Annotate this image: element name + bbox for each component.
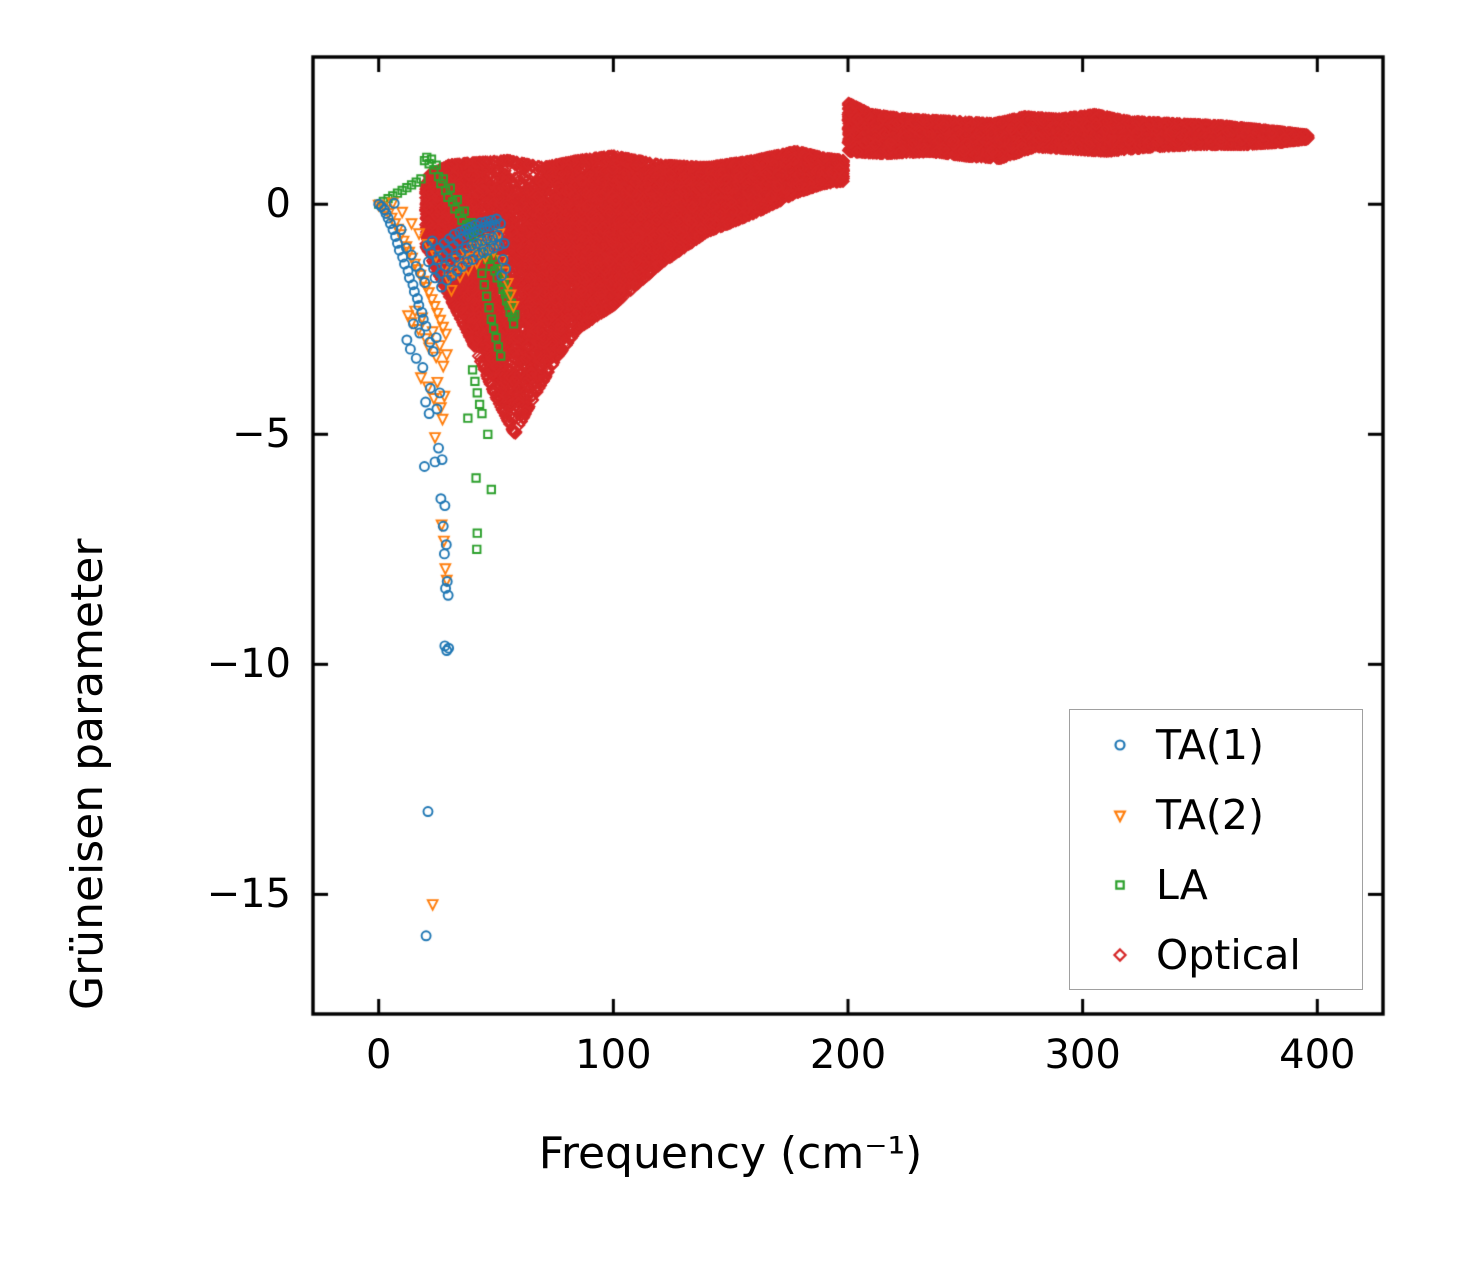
legend-label: LA (1156, 865, 1208, 906)
y-axis-label: Grüneisen parameter (62, 539, 113, 1010)
x-tick-label: 100 (575, 1032, 651, 1078)
y-tick-label: −15 (0, 871, 291, 917)
legend-label: TA(1) (1156, 725, 1264, 766)
legend-item-optical[interactable]: Optical (1070, 920, 1362, 990)
x-tick-label: 200 (810, 1032, 886, 1078)
legend-item-la[interactable]: LA (1070, 850, 1362, 920)
legend-item-ta1[interactable]: TA(1) (1070, 710, 1362, 780)
figure-canvas-container: Grüneisen parameter Frequency (cm⁻¹) 010… (0, 0, 1461, 1264)
x-tick-label: 0 (366, 1032, 391, 1078)
y-tick-label: 0 (0, 181, 291, 227)
legend-marker-triangle_down-icon (1092, 795, 1148, 835)
legend-label: TA(2) (1156, 795, 1264, 836)
x-tick-label: 300 (1044, 1032, 1120, 1078)
y-tick-label: −10 (0, 641, 291, 687)
x-tick-label: 400 (1279, 1032, 1355, 1078)
y-tick-label: −5 (0, 411, 291, 457)
legend-label: Optical (1156, 935, 1301, 976)
x-axis-label: Frequency (cm⁻¹) (0, 1128, 1461, 1179)
legend-item-ta2[interactable]: TA(2) (1070, 780, 1362, 850)
legend-marker-circle-icon (1092, 725, 1148, 765)
legend-marker-square-icon (1092, 865, 1148, 905)
legend-marker-diamond-icon (1092, 935, 1148, 975)
legend-box[interactable]: TA(1)TA(2)LAOptical (1069, 709, 1363, 990)
